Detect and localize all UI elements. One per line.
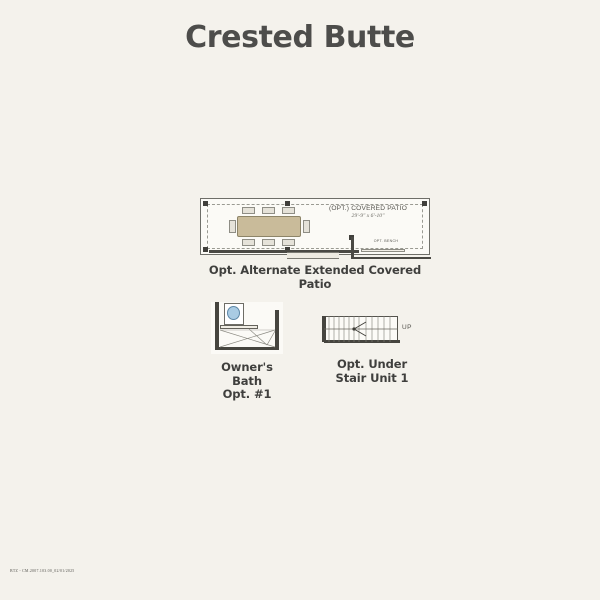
patio-room-label: (OPT.) COVERED PATIO 29'-9" x 6'-10" xyxy=(321,205,425,219)
stair-direction-label: UP xyxy=(402,324,412,331)
stair-treads xyxy=(324,316,398,342)
patio-dining-table xyxy=(237,216,301,237)
patio-chair xyxy=(262,207,275,214)
stair-caption-line-1: Opt. Under xyxy=(337,357,407,371)
plan-option-covered-patio[interactable]: (OPT.) COVERED PATIO 29'-9" x 6'-10" OPT… xyxy=(200,198,430,291)
patio-corner-pier xyxy=(203,247,208,252)
patio-bench-seat xyxy=(361,249,405,252)
stair-floorplan-drawing: UP xyxy=(322,308,422,352)
patio-corner-pier xyxy=(285,201,290,206)
stair-caption-line-2: Stair Unit 1 xyxy=(336,371,409,385)
bath-caption-line-1: Owner's Bath xyxy=(221,360,273,388)
patio-chair xyxy=(303,220,310,233)
patio-chair xyxy=(282,239,295,246)
patio-corner-pier xyxy=(203,201,208,206)
bath-caption-line-2: Opt. #1 xyxy=(223,387,272,401)
bath-floorplan-drawing xyxy=(211,302,283,354)
bath-plan-caption: Owner's Bath Opt. #1 xyxy=(205,361,289,402)
footer-document-code: BTZ - CM.2007.103.00_02/01/2025 xyxy=(10,569,75,573)
patio-floorplan-drawing: (OPT.) COVERED PATIO 29'-9" x 6'-10" OPT… xyxy=(200,198,430,255)
plan-option-owners-bath[interactable]: Owner's Bath Opt. #1 xyxy=(205,302,289,402)
patio-chair xyxy=(229,220,236,233)
page-title: Crested Butte xyxy=(0,20,600,55)
plan-option-under-stair-unit[interactable]: UP Opt. Under Stair Unit 1 xyxy=(322,308,422,385)
patio-chair xyxy=(262,239,275,246)
stair-plan-caption: Opt. Under Stair Unit 1 xyxy=(322,358,422,385)
patio-chair xyxy=(242,239,255,246)
patio-step xyxy=(287,252,339,259)
patio-plan-caption: Opt. Alternate Extended Covered Patio xyxy=(200,264,430,291)
bath-shower-swing-lines xyxy=(219,329,277,349)
patio-room-name: (OPT.) COVERED PATIO xyxy=(321,205,425,212)
patio-bench-label: OPT. BENCH xyxy=(353,239,419,243)
patio-room-dimension: 29'-9" x 6'-10" xyxy=(321,213,425,219)
patio-chair xyxy=(242,207,255,214)
patio-chair xyxy=(282,207,295,214)
bath-sink-fixture xyxy=(227,306,240,320)
